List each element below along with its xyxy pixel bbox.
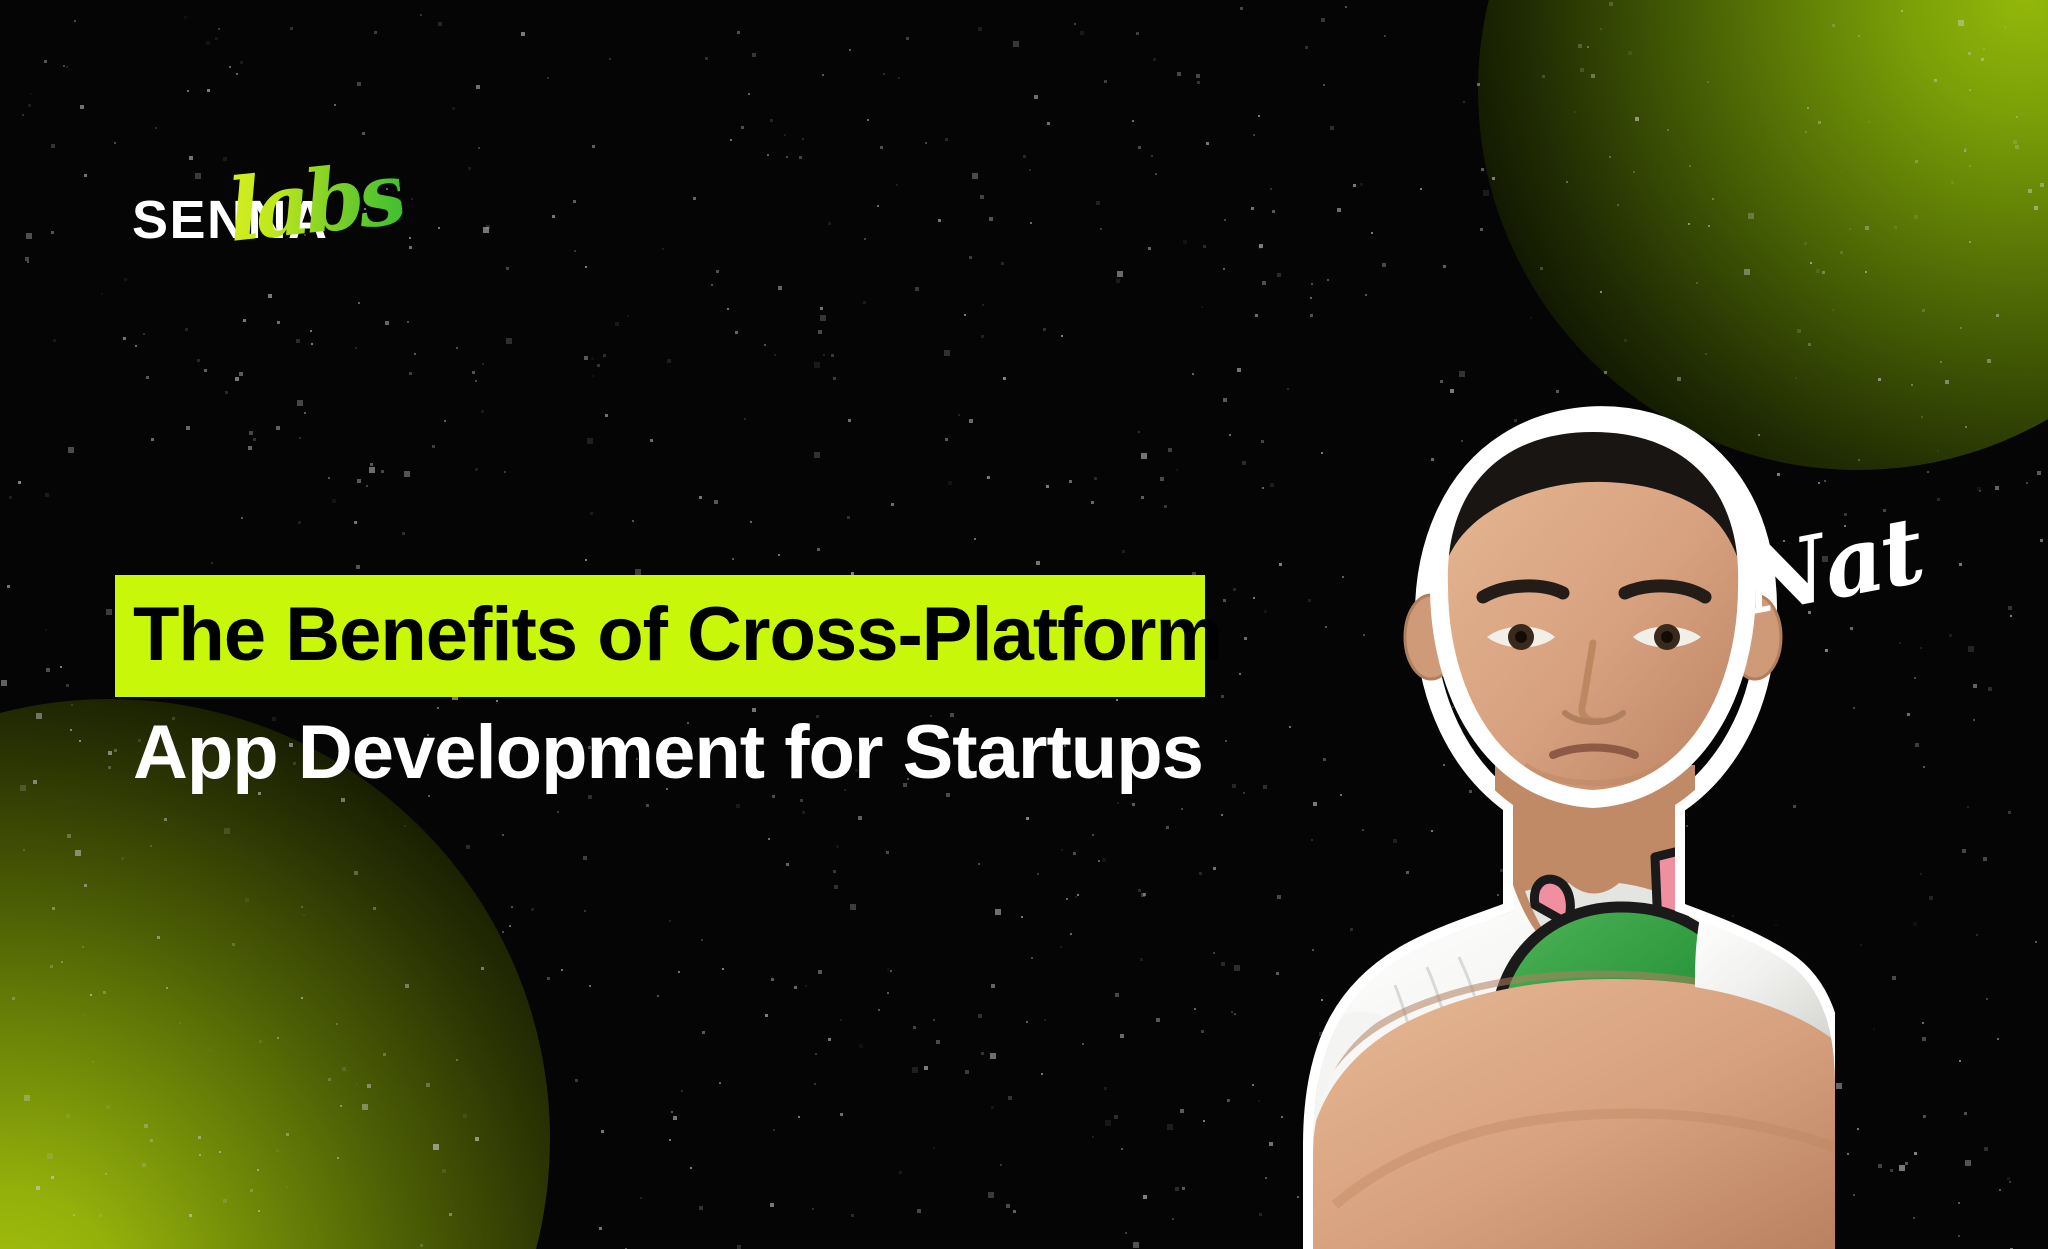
headline-block: The Benefits of Cross-Platform App Devel… bbox=[115, 575, 1295, 801]
headline-line-2: App Development for Startups bbox=[115, 697, 1295, 801]
cover-canvas: SENNA labs bbox=[0, 0, 2048, 1249]
sennalabs-logo[interactable]: SENNA labs bbox=[132, 188, 329, 266]
logo-script: labs bbox=[224, 151, 405, 255]
headline-line-1: The Benefits of Cross-Platform bbox=[115, 575, 1205, 697]
